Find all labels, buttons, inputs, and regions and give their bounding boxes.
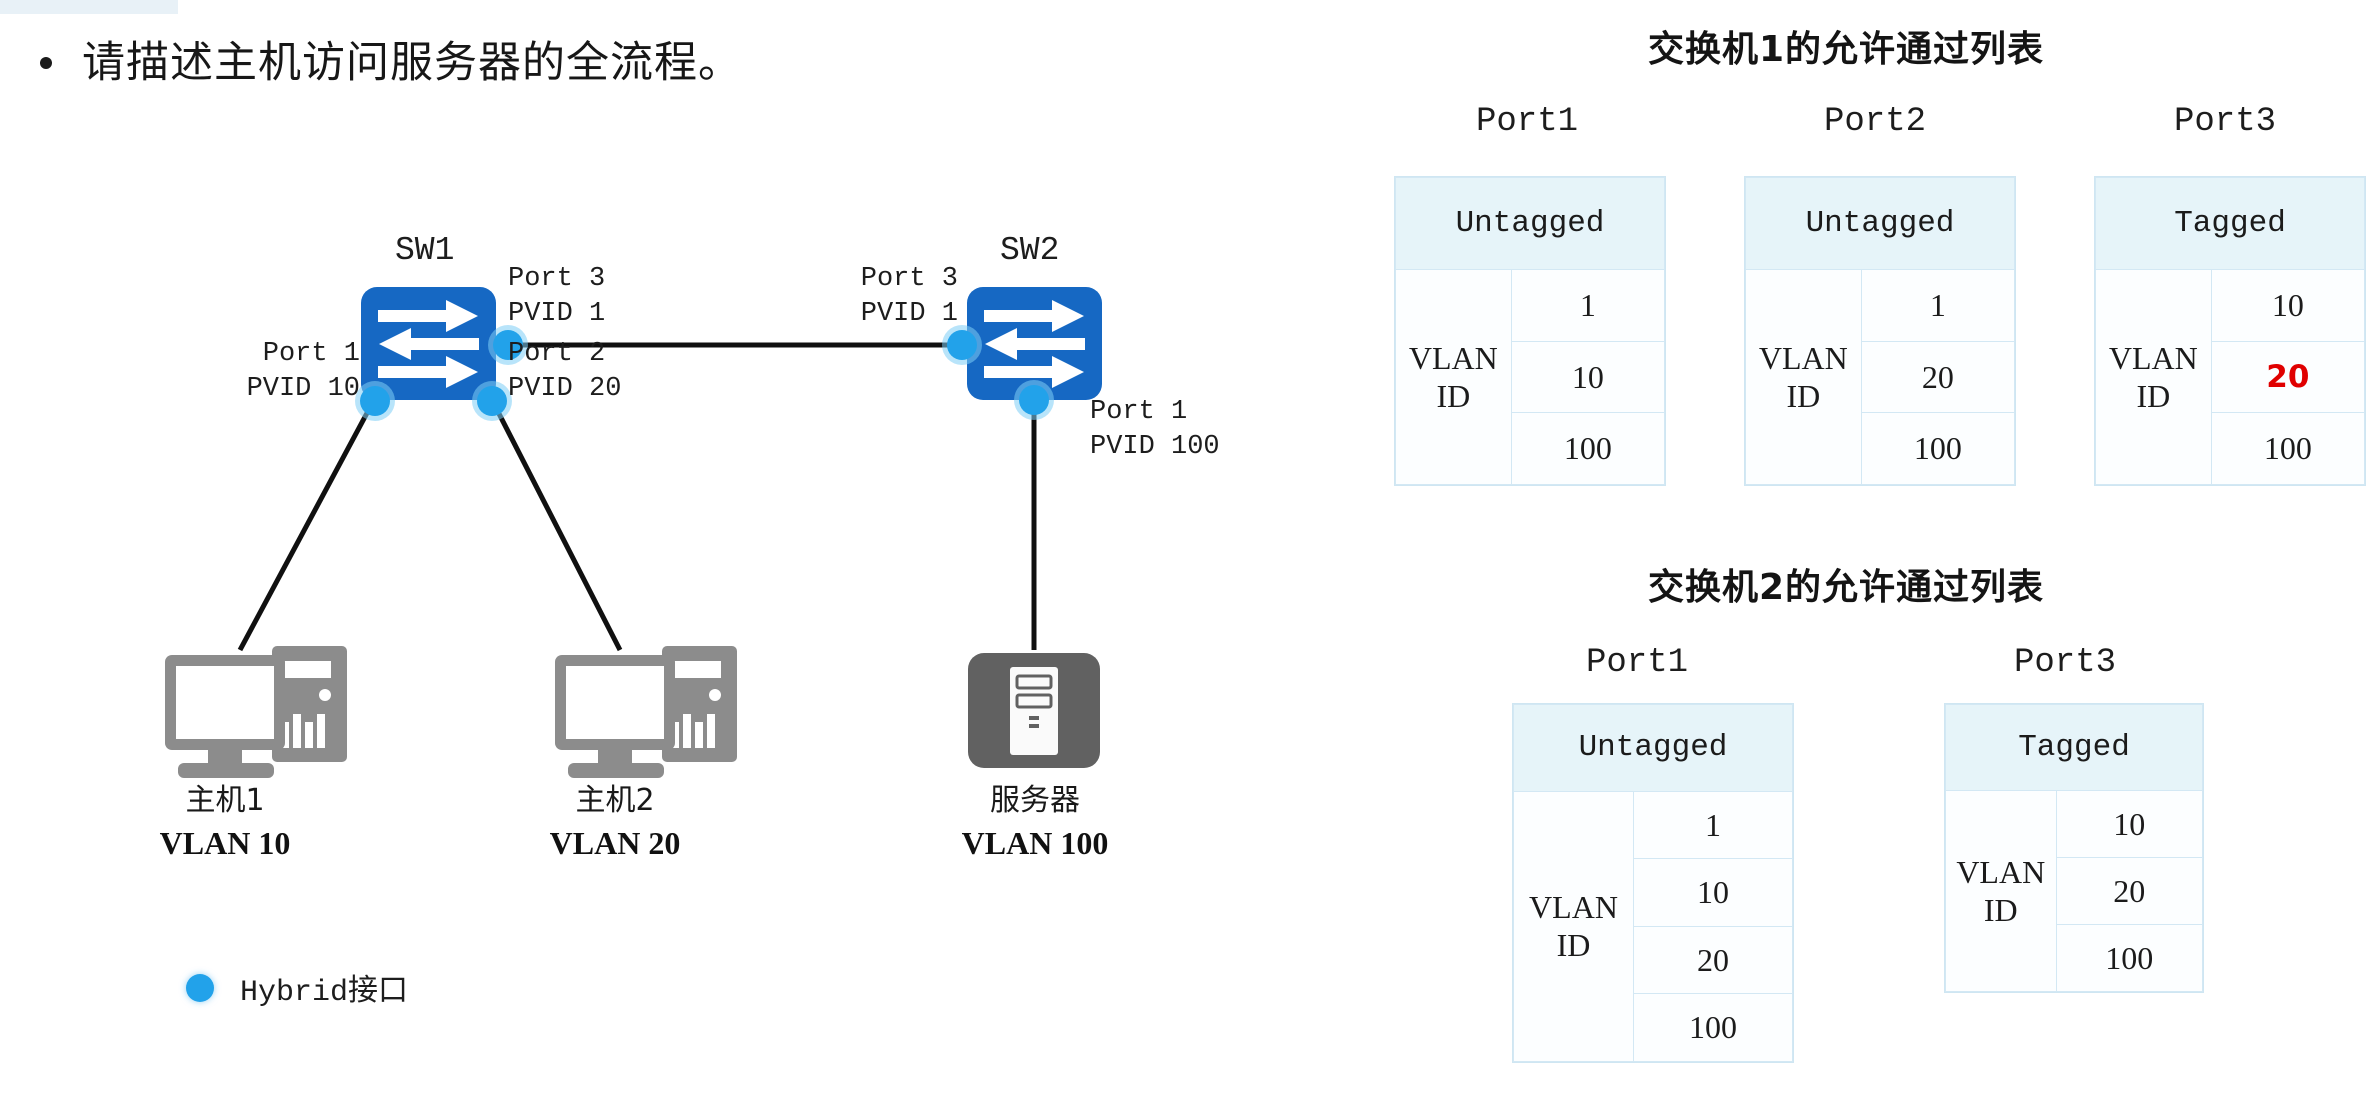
sw1-port1-row-header: VLAN ID bbox=[1396, 270, 1512, 485]
sw1-port2-title: Port2 bbox=[1824, 103, 1926, 141]
switch-label-sw2: SW2 bbox=[1000, 232, 1059, 269]
port-label-sw2-port3: Port 3 PVID 1 bbox=[710, 262, 958, 332]
topology-canvas bbox=[0, 0, 1340, 1095]
sw2-port3-vlan-value: 100 bbox=[2056, 925, 2203, 992]
switch-label-sw1: SW1 bbox=[395, 232, 454, 269]
sw1-port3-vlan-value-highlight: 20 bbox=[2211, 341, 2364, 413]
port-label-sw2-port3-line1: Port 3 bbox=[861, 264, 958, 294]
port-label-sw1-port3-line2: PVID 1 bbox=[508, 299, 605, 329]
sw1-port3-row-header-line2: ID bbox=[2136, 378, 2170, 414]
server-icon bbox=[968, 653, 1100, 768]
sw1-port1-vlan-value: 100 bbox=[1511, 413, 1664, 485]
sw2-port1-row-header-line2: ID bbox=[1557, 927, 1591, 963]
device-name-host1: 主机1 bbox=[115, 775, 335, 819]
pc-icon-host1 bbox=[165, 646, 347, 778]
sw1-port3-mode-header: Tagged bbox=[2096, 178, 2365, 270]
port-label-sw1-port2: Port 2 PVID 20 bbox=[508, 337, 621, 407]
sw1-port2-vlan-value: 100 bbox=[1861, 413, 2014, 485]
sw1-port3-vlan-table: Tagged VLAN ID 10 20 100 bbox=[2094, 176, 2366, 486]
sw1-port3-title: Port3 bbox=[2174, 103, 2276, 141]
sw2-tables-title: 交换机2的允许通过列表 bbox=[1648, 558, 2044, 610]
hybrid-port-dot-icon bbox=[186, 974, 214, 1002]
sw2-port1-row-header: VLAN ID bbox=[1514, 791, 1634, 1061]
sw1-port2-row-header-line1: VLAN bbox=[1759, 340, 1848, 376]
link-sw1-host2 bbox=[492, 400, 620, 650]
port-label-sw2-port1-line2: PVID 100 bbox=[1090, 432, 1220, 462]
port-label-sw1-port2-line2: PVID 20 bbox=[508, 374, 621, 404]
legend-label-hybrid: Hybrid接口 bbox=[240, 965, 408, 1010]
sw1-port3-row-header-line1: VLAN bbox=[2109, 340, 2198, 376]
port-label-sw2-port1-line1: Port 1 bbox=[1090, 397, 1187, 427]
sw2-port3-vlan-table: Tagged VLAN ID 10 20 100 bbox=[1944, 703, 2204, 993]
device-vlan-server: VLAN 100 bbox=[920, 825, 1150, 862]
sw1-port1-row-header-line2: ID bbox=[1436, 378, 1470, 414]
sw1-port3-vlan-value: 100 bbox=[2211, 413, 2364, 485]
pc-icon-host2 bbox=[555, 646, 737, 778]
device-vlan-host1: VLAN 10 bbox=[115, 825, 335, 862]
sw2-port1-title: Port1 bbox=[1586, 644, 1688, 682]
port-dot-sw1-port2 bbox=[472, 381, 512, 421]
port-dot-sw2-port1 bbox=[1014, 380, 1054, 420]
sw1-port2-vlan-table: Untagged VLAN ID 1 20 100 bbox=[1744, 176, 2016, 486]
port-label-sw1-port3: Port 3 PVID 1 bbox=[508, 262, 605, 332]
device-name-server: 服务器 bbox=[920, 775, 1150, 819]
sw1-port3-vlan-value: 10 bbox=[2211, 270, 2364, 342]
sw1-port1-title: Port1 bbox=[1476, 103, 1578, 141]
sw1-port2-vlan-value: 20 bbox=[1861, 341, 2014, 413]
device-vlan-host2: VLAN 20 bbox=[505, 825, 725, 862]
sw1-tables-title: 交换机1的允许通过列表 bbox=[1648, 20, 2044, 72]
sw2-port3-row-header: VLAN ID bbox=[1946, 791, 2057, 992]
sw2-port1-row-header-line1: VLAN bbox=[1529, 889, 1618, 925]
sw1-port1-vlan-value: 1 bbox=[1511, 270, 1664, 342]
sw1-port2-vlan-value: 1 bbox=[1861, 270, 2014, 342]
sw1-port1-row-header-line1: VLAN bbox=[1409, 340, 1498, 376]
link-sw1-host1 bbox=[240, 400, 374, 650]
sw1-port1-vlan-table: Untagged VLAN ID 1 10 100 bbox=[1394, 176, 1666, 486]
sw2-port1-vlan-value: 1 bbox=[1633, 791, 1792, 859]
port-label-sw2-port3-line2: PVID 1 bbox=[861, 299, 958, 329]
port-label-sw1-port1-line2: PVID 10 bbox=[247, 374, 360, 404]
sw2-port1-mode-header: Untagged bbox=[1514, 705, 1793, 792]
device-caption-host2: 主机2 VLAN 20 bbox=[505, 775, 725, 862]
sw2-port1-vlan-value: 10 bbox=[1633, 859, 1792, 927]
sw1-port2-row-header-line2: ID bbox=[1786, 378, 1820, 414]
sw1-port1-vlan-value: 10 bbox=[1511, 341, 1664, 413]
device-caption-server: 服务器 VLAN 100 bbox=[920, 775, 1150, 862]
sw2-port3-row-header-line2: ID bbox=[1984, 892, 2018, 928]
device-caption-host1: 主机1 VLAN 10 bbox=[115, 775, 335, 862]
sw2-port3-row-header-line1: VLAN bbox=[1956, 854, 2045, 890]
sw2-port3-vlan-value: 20 bbox=[2056, 858, 2203, 925]
device-name-host2: 主机2 bbox=[505, 775, 725, 819]
sw1-port3-row-header: VLAN ID bbox=[2096, 270, 2212, 485]
sw2-port1-vlan-value: 100 bbox=[1633, 994, 1792, 1062]
sw2-port1-vlan-value: 20 bbox=[1633, 926, 1792, 994]
port-label-sw1-port1-line1: Port 1 bbox=[263, 339, 360, 369]
sw2-port1-vlan-table: Untagged VLAN ID 1 10 20 100 bbox=[1512, 703, 1794, 1063]
sw1-port2-row-header: VLAN ID bbox=[1746, 270, 1862, 485]
port-label-sw1-port1: Port 1 PVID 10 bbox=[110, 337, 360, 407]
diagram-legend: Hybrid接口 bbox=[186, 965, 408, 1010]
sw1-port1-mode-header: Untagged bbox=[1396, 178, 1665, 270]
port-label-sw1-port3-line1: Port 3 bbox=[508, 264, 605, 294]
network-topology-diagram: SW1 SW2 Port 3 PVID 1 Port 1 PVID 10 Por… bbox=[0, 0, 1340, 1095]
sw2-port3-vlan-value: 10 bbox=[2056, 791, 2203, 858]
port-dot-sw1-port1 bbox=[355, 381, 395, 421]
port-label-sw2-port1: Port 1 PVID 100 bbox=[1090, 395, 1220, 465]
sw2-port3-mode-header: Tagged bbox=[1946, 705, 2203, 791]
sw2-port3-title: Port3 bbox=[2014, 644, 2116, 682]
port-label-sw1-port2-line1: Port 2 bbox=[508, 339, 605, 369]
sw1-port2-mode-header: Untagged bbox=[1746, 178, 2015, 270]
